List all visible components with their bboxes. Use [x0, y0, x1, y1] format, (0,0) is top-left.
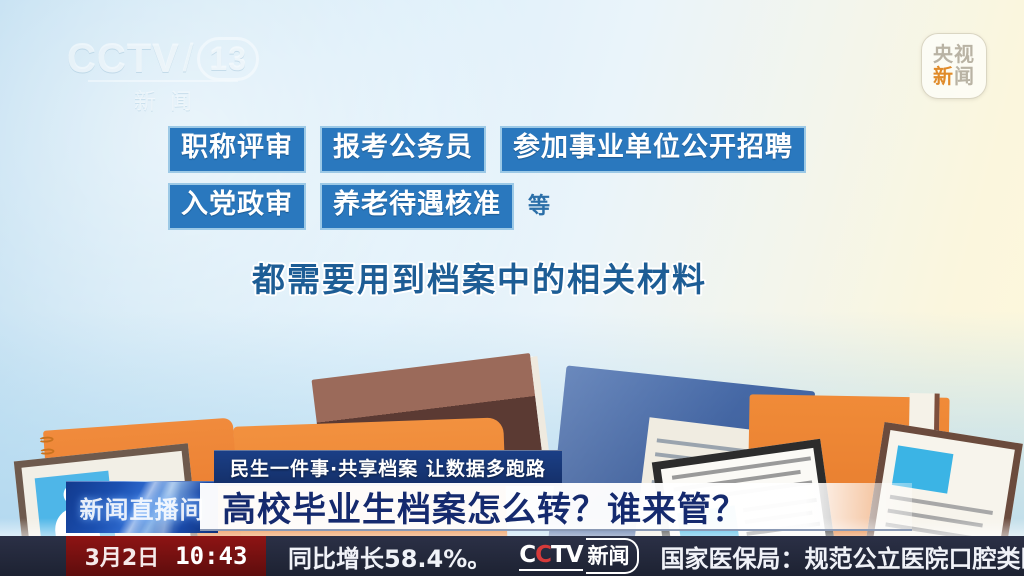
cctv-channel-number: 13 [197, 37, 259, 81]
pill-item: 养老待遇核准 [320, 183, 514, 230]
graphic-summary-text: 都需要用到档案中的相关材料 [252, 253, 707, 301]
program-logo: 新闻直播间 [66, 481, 218, 533]
pill-item: 职称评审 [168, 126, 306, 173]
cctv-sub-label: 新闻 [120, 84, 206, 116]
lower-third-headline-band: 高校毕业生档案怎么转？谁来管？ [200, 483, 912, 531]
ticker-leading-text: 同比增长58.4%。 [288, 539, 491, 574]
ticker-time: 10:43 [175, 542, 247, 570]
cctv-news-ticker-logo: CCTV 新闻 [519, 538, 638, 574]
ticker-headline: 国家医保局：规范公立医院口腔类医 [661, 539, 1024, 574]
cctv13-channel-watermark: CCTV / 13 新闻 [63, 36, 263, 116]
kicker-label: 民生一件事·共享档案 让数据多跑路 [230, 458, 546, 480]
program-logo-label: 新闻直播间 [80, 490, 205, 525]
ticker-news-wordmark: 新闻 [586, 538, 639, 574]
pill-item: 报考公务员 [320, 126, 486, 173]
cctv-wordmark: CCTV [67, 37, 180, 82]
app-badge-line2: 新闻 [933, 66, 975, 88]
broadcast-frame: CCTV / 13 新闻 央视 新闻 职称评审 报考公务员 参加事业单位公开招聘… [0, 0, 1024, 576]
info-graphic-pills: 职称评审 报考公务员 参加事业单位公开招聘 入党政审 养老待遇核准 等 [168, 126, 928, 240]
ticker-datetime: 3月2日 10:43 [66, 536, 266, 576]
app-badge-xin: 新 [933, 66, 954, 88]
news-ticker-bar: 3月2日 10:43 同比增长58.4%。 CCTV 新闻 国家医保局：规范公立… [0, 536, 1024, 576]
ticker-date: 3月2日 [85, 540, 160, 572]
pill-row: 职称评审 报考公务员 参加事业单位公开招聘 [168, 126, 928, 173]
headline-text: 高校毕业生档案怎么转？谁来管？ [222, 482, 747, 531]
cctv-slash: / [183, 38, 195, 81]
pill-item: 参加事业单位公开招聘 [500, 126, 806, 173]
cctv-news-app-badge: 央视 新闻 [921, 33, 987, 99]
app-badge-wen: 闻 [954, 66, 975, 88]
pill-row-suffix: 等 [528, 190, 550, 224]
pill-item: 入党政审 [168, 183, 306, 230]
cctv-underline [88, 80, 238, 82]
app-badge-line1: 央视 [933, 44, 975, 66]
ticker-cctv-wordmark: CCTV [519, 542, 582, 571]
pill-row: 入党政审 养老待遇核准 等 [168, 183, 928, 230]
